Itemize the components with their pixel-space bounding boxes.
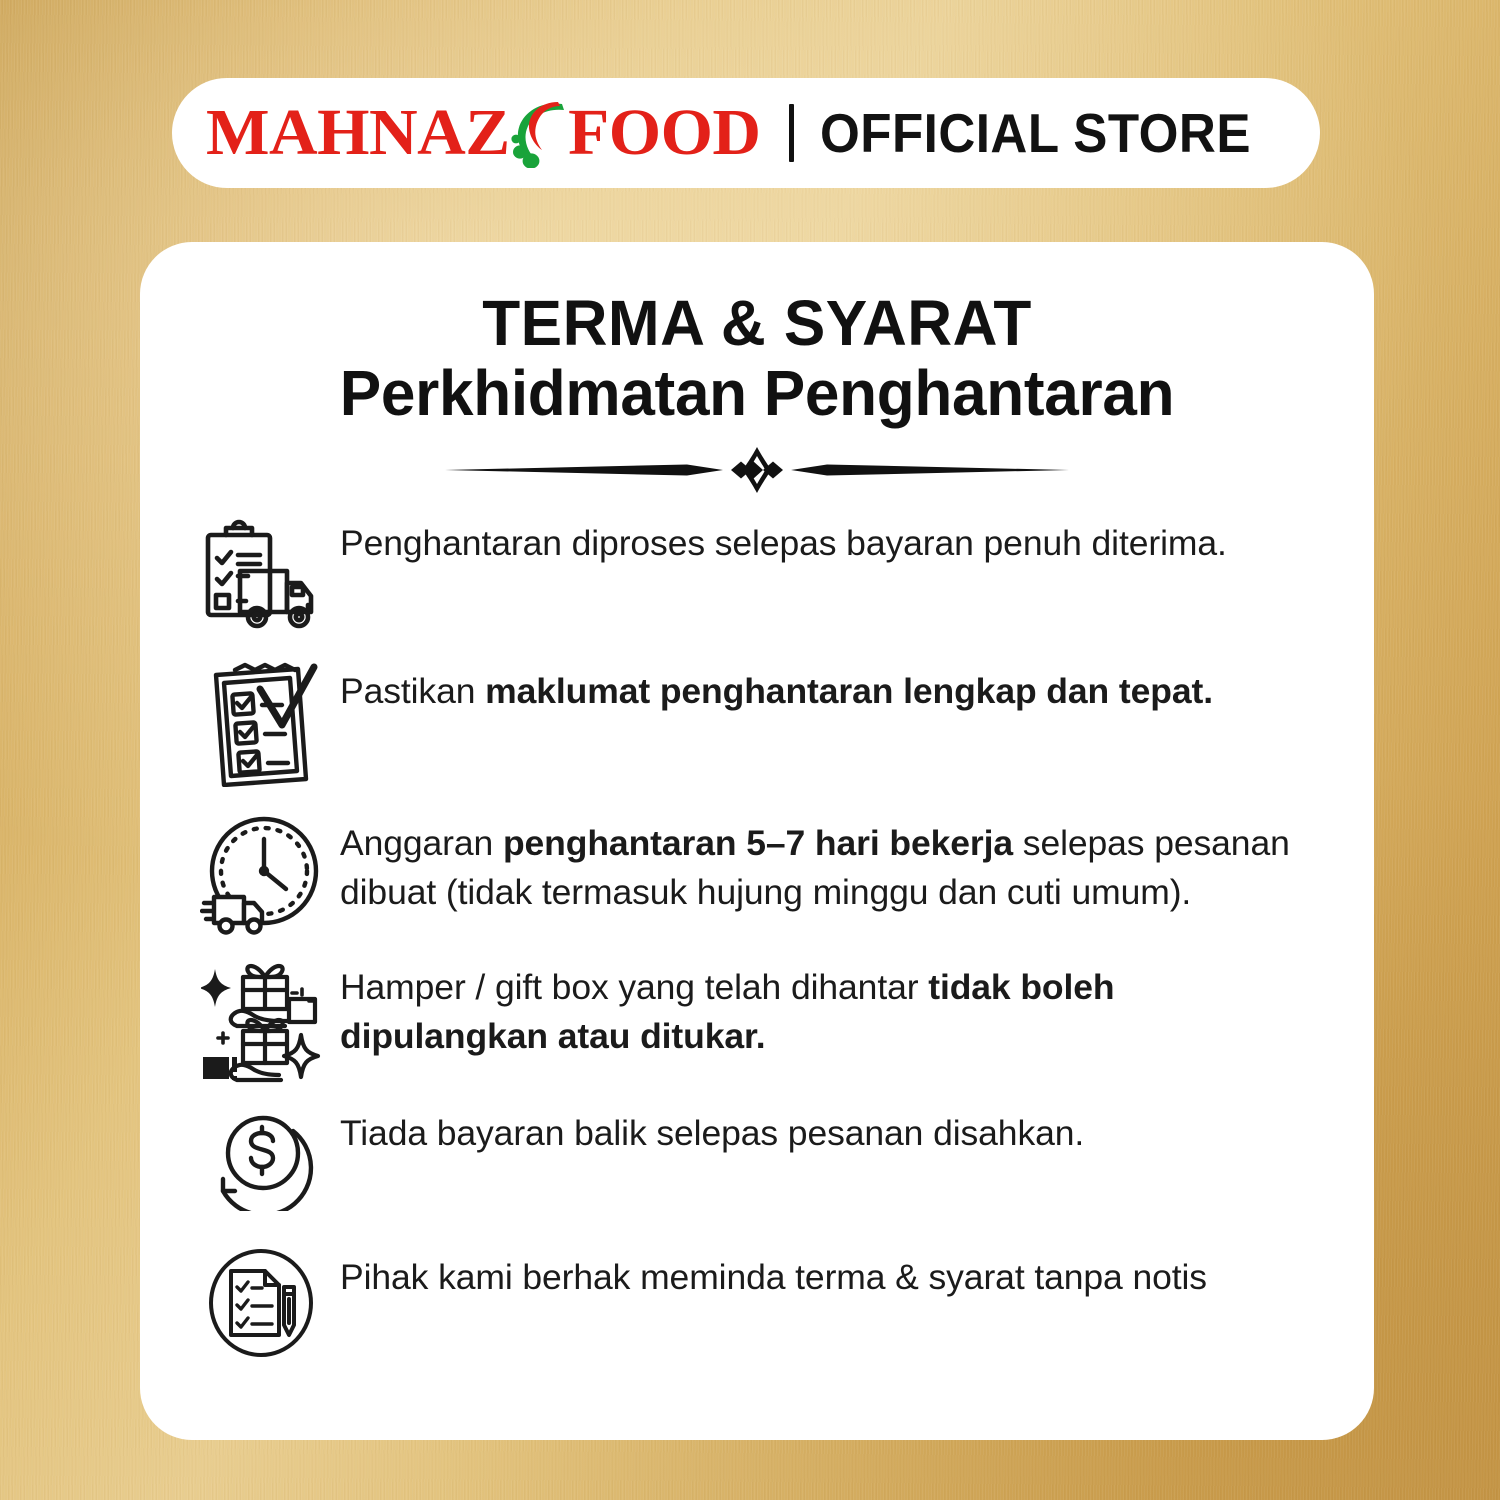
brand-logo: MAHNAZ FOOD: [209, 98, 759, 168]
swoosh-logo-icon: [506, 98, 568, 168]
vertical-divider: [789, 104, 794, 162]
brand-name-mahnaz: MAHNAZ: [206, 100, 510, 166]
list-item: Penghantaran diproses selepas bayaran pe…: [198, 511, 1316, 637]
decorative-divider-ornament: [437, 443, 1077, 497]
term-text: Pastikan maklumat penghantaran lengkap d…: [324, 659, 1316, 715]
gift-box-hands-icon: [198, 955, 324, 1081]
list-item: Tiada bayaran balik selepas pesanan disa…: [198, 1101, 1316, 1227]
checklist-pencil-circle-icon: [198, 1245, 324, 1371]
title-block: TERMA & SYARAT Perkhidmatan Penghantaran: [198, 288, 1316, 429]
term-text: Tiada bayaran balik selepas pesanan disa…: [324, 1101, 1316, 1157]
clipboard-truck-icon: [198, 511, 324, 637]
refund-dollar-icon: [198, 1101, 324, 1227]
clock-truck-icon: [198, 811, 324, 937]
term-text: Hamper / gift box yang telah dihantar ti…: [324, 955, 1316, 1060]
term-text: Penghantaran diproses selepas bayaran pe…: [324, 511, 1316, 567]
official-store-label: OFFICIAL STORE: [820, 106, 1251, 161]
term-text: Pihak kami berhak meminda terma & syarat…: [324, 1245, 1316, 1301]
term-text: Anggaran penghantaran 5–7 hari bekerja s…: [324, 811, 1316, 916]
list-item: Anggaran penghantaran 5–7 hari bekerja s…: [198, 811, 1316, 937]
brand-name-food: FOOD: [568, 100, 760, 166]
page-subtitle: Perkhidmatan Penghantaran: [215, 358, 1299, 430]
page-title: TERMA & SYARAT: [215, 288, 1299, 360]
list-item: Hamper / gift box yang telah dihantar ti…: [198, 955, 1316, 1081]
list-item: Pastikan maklumat penghantaran lengkap d…: [198, 659, 1316, 785]
checklist-hand-icon: [198, 659, 324, 785]
list-item: Pihak kami berhak meminda terma & syarat…: [198, 1245, 1316, 1371]
terms-card: TERMA & SYARAT Perkhidmatan Penghantaran: [140, 242, 1374, 1440]
brand-header-pill: MAHNAZ FOOD OFFICIAL STORE: [172, 78, 1320, 188]
terms-list: Penghantaran diproses selepas bayaran pe…: [198, 511, 1316, 1371]
